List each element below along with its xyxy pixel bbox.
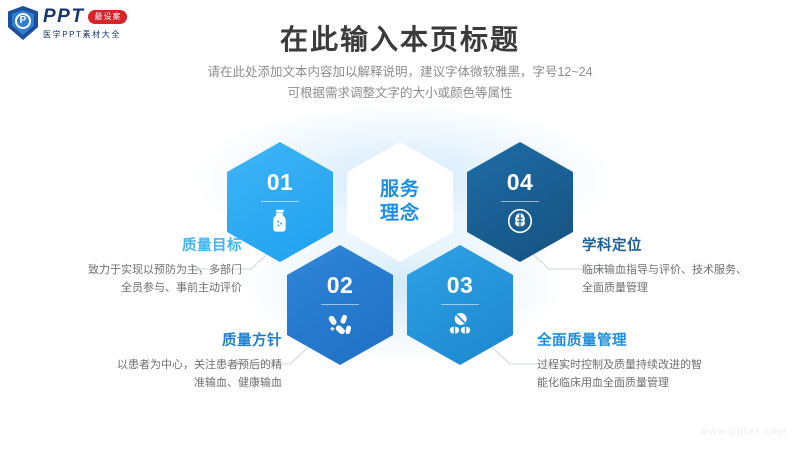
body-line-2: 全面质量管理 (582, 282, 648, 294)
hexagon-01-number: 01 (267, 171, 294, 194)
hexagon-02[interactable]: 02 (287, 245, 393, 365)
info-block-quality-policy: 质量方针 以患者为中心，关注患者预后的精 准输血、健康输血 (64, 333, 282, 392)
body-line-1: 以患者为中心，关注患者预后的精 (117, 359, 282, 371)
divider (261, 201, 299, 202)
info-block-heading: 全面质量管理 (537, 333, 755, 350)
info-block-heading: 质量方针 (64, 333, 282, 350)
body-line-2: 能化临床用血全面质量管理 (537, 377, 669, 389)
hexagon-01[interactable]: 01 (227, 142, 333, 262)
divider (441, 304, 479, 305)
info-block-body: 临床输血指导与评价、技术服务、 全面质量管理 (582, 261, 800, 297)
divider (321, 304, 359, 305)
capsules-icon (327, 311, 353, 337)
hexagon-04[interactable]: 04 (467, 142, 573, 262)
body-line-2: 全员参与、事前主动评价 (121, 282, 242, 294)
subtitle-line-1: 请在此处添加文本内容加以解释说明，建议字体微软雅黑，字号12~24 (0, 62, 800, 83)
hexagon-03[interactable]: 03 (407, 245, 513, 365)
info-block-quality-goal: 质量目标 致力于实现以预防为主，多部门 全员参与、事前主动评价 (24, 238, 242, 297)
hexagon-02-number: 02 (327, 274, 354, 297)
body-line-1: 致力于实现以预防为主，多部门 (88, 264, 242, 276)
brain-icon (507, 208, 533, 234)
hexagon-03-number: 03 (447, 274, 474, 297)
hexagon-center: 服务 理念 (347, 142, 453, 262)
info-block-discipline-position: 学科定位 临床输血指导与评价、技术服务、 全面质量管理 (582, 238, 800, 297)
tablets-icon (447, 311, 473, 337)
center-line-2: 理念 (380, 202, 420, 226)
info-block-heading: 质量目标 (24, 238, 242, 255)
body-line-1: 临床输血指导与评价、技术服务、 (582, 264, 747, 276)
info-block-heading: 学科定位 (582, 238, 800, 255)
info-block-total-quality-management: 全面质量管理 过程实时控制及质量持续改进的智 能化临床用血全面质量管理 (537, 333, 755, 392)
medicine-bottle-icon (267, 208, 293, 234)
hexagon-cluster: 01 服务 理念 04 (225, 128, 575, 343)
info-block-body: 致力于实现以预防为主，多部门 全员参与、事前主动评价 (24, 261, 242, 297)
footer-watermark: www.ppter.com (701, 426, 788, 436)
divider (501, 201, 539, 202)
page-subtitle: 请在此处添加文本内容加以解释说明，建议字体微软雅黑，字号12~24 可根据需求调… (0, 62, 800, 104)
body-line-1: 过程实时控制及质量持续改进的智 (537, 359, 702, 371)
hexagon-04-number: 04 (507, 171, 534, 194)
info-block-body: 以患者为中心，关注患者预后的精 准输血、健康输血 (64, 356, 282, 392)
page-title: 在此输入本页标题 (0, 18, 800, 58)
body-line-2: 准输血、健康输血 (194, 377, 282, 389)
slide-canvas: P PPT 最设案 医学PPT素材大全 在此输入本页标题 请在此处添加文本内容加… (0, 0, 800, 450)
center-line-1: 服务 (380, 178, 420, 202)
subtitle-line-2: 可根据需求调整文字的大小或颜色等属性 (0, 83, 800, 104)
info-block-body: 过程实时控制及质量持续改进的智 能化临床用血全面质量管理 (537, 356, 755, 392)
